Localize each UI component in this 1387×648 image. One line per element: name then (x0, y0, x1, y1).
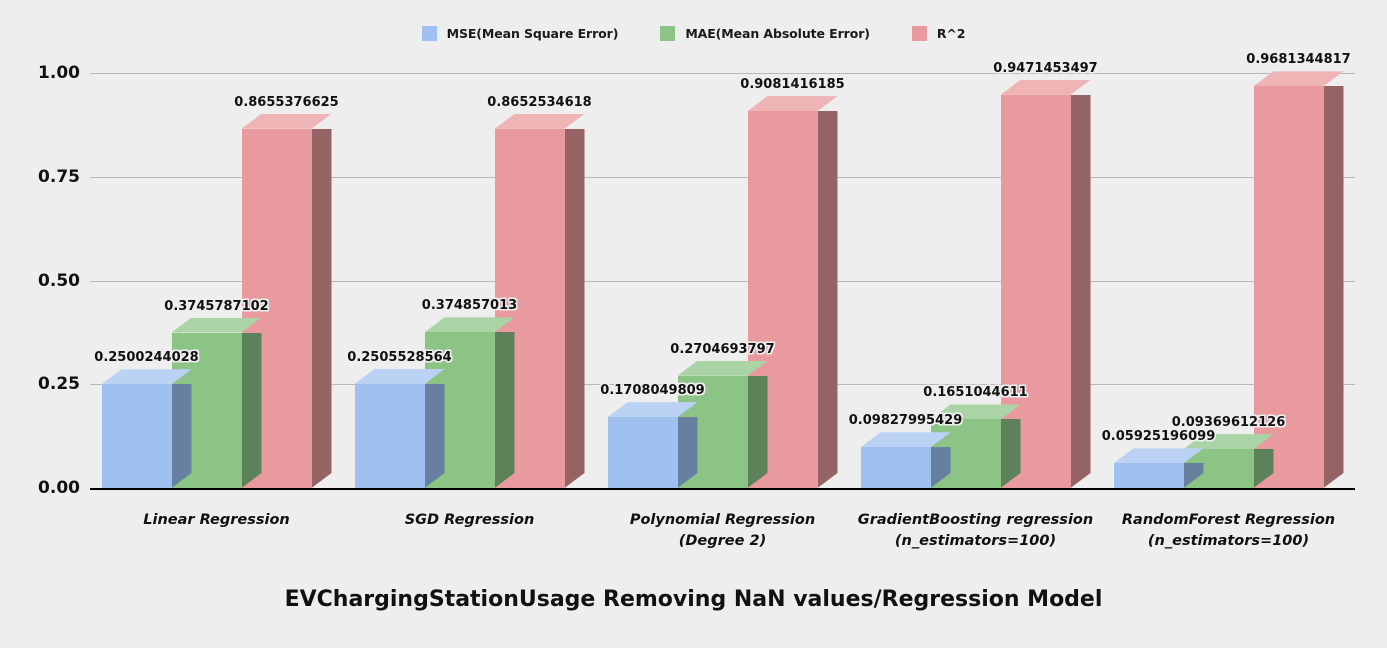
bar-chart: MSE(Mean Square Error)MAE(Mean Absolute … (0, 0, 1387, 648)
x-axis-category-label-line: (n_estimators=100) (836, 531, 1116, 552)
bar-side-face (818, 111, 838, 488)
bar[interactable] (1114, 463, 1184, 488)
x-axis-category-label: Polynomial Regression(Degree 2) (583, 510, 863, 552)
x-axis-category-label-line: RandomForest Regression (1089, 510, 1369, 531)
bar-value-label: 0.2500244028 (94, 350, 198, 365)
bar-side-face (565, 129, 585, 488)
bar[interactable] (608, 417, 678, 488)
bar-value-label: 0.2704693797 (670, 342, 774, 357)
bar-side-face (425, 384, 445, 488)
x-axis-category-label: SGD Regression (330, 510, 610, 531)
bar-value-label: 0.2505528564 (347, 350, 451, 365)
x-axis-category-label-line: (n_estimators=100) (1089, 531, 1369, 552)
x-axis-category-label-line: Polynomial Regression (583, 510, 863, 531)
bar-value-label: 0.9081416185 (740, 77, 844, 92)
x-axis-category-label-line: Linear Regression (77, 510, 357, 531)
x-axis-category-label-line: SGD Regression (330, 510, 610, 531)
x-axis-category-label: GradientBoosting regression(n_estimators… (836, 510, 1116, 552)
bar-top-face (748, 96, 838, 111)
bars-layer: 0.25002440280.37457871020.8655376625Line… (0, 0, 1387, 648)
bar-side-face (748, 376, 768, 488)
bar[interactable] (355, 384, 425, 488)
x-axis-category-label-line: (Degree 2) (583, 531, 863, 552)
bar-front-face (355, 384, 425, 488)
bar-top-face (242, 114, 332, 129)
bar-value-label: 0.1708049809 (600, 383, 704, 398)
bar-value-label: 0.09827995429 (849, 413, 962, 428)
bar[interactable] (102, 384, 172, 488)
bar-value-label: 0.9681344817 (1246, 52, 1350, 67)
bar-value-label: 0.09369612126 (1172, 415, 1285, 430)
bar-front-face (861, 447, 931, 488)
bar-value-label: 0.05925196099 (1102, 429, 1215, 444)
bar-side-face (495, 332, 515, 488)
bar-value-label: 0.9471453497 (993, 61, 1097, 76)
x-axis-category-label: RandomForest Regression(n_estimators=100… (1089, 510, 1369, 552)
x-axis-category-label-line: GradientBoosting regression (836, 510, 1116, 531)
bar-side-face (312, 129, 332, 488)
bar-top-face (1254, 71, 1344, 86)
bar-top-face (495, 114, 585, 129)
bar-value-label: 0.374857013 (422, 298, 517, 313)
bar-front-face (1114, 463, 1184, 488)
bar-value-label: 0.3745787102 (164, 299, 268, 314)
bar-front-face (608, 417, 678, 488)
bar-front-face (102, 384, 172, 488)
bar[interactable] (861, 447, 931, 488)
bar-side-face (1324, 86, 1344, 488)
chart-title: EVChargingStationUsage Removing NaN valu… (0, 587, 1387, 612)
bar-value-label: 0.8655376625 (234, 95, 338, 110)
bar-side-face (1071, 95, 1091, 488)
bar-side-face (242, 333, 262, 488)
bar-value-label: 0.1651044611 (923, 385, 1027, 400)
bar-side-face (172, 384, 192, 488)
bar-value-label: 0.8652534618 (487, 95, 591, 110)
x-axis-category-label: Linear Regression (77, 510, 357, 531)
bar-top-face (1001, 80, 1091, 95)
